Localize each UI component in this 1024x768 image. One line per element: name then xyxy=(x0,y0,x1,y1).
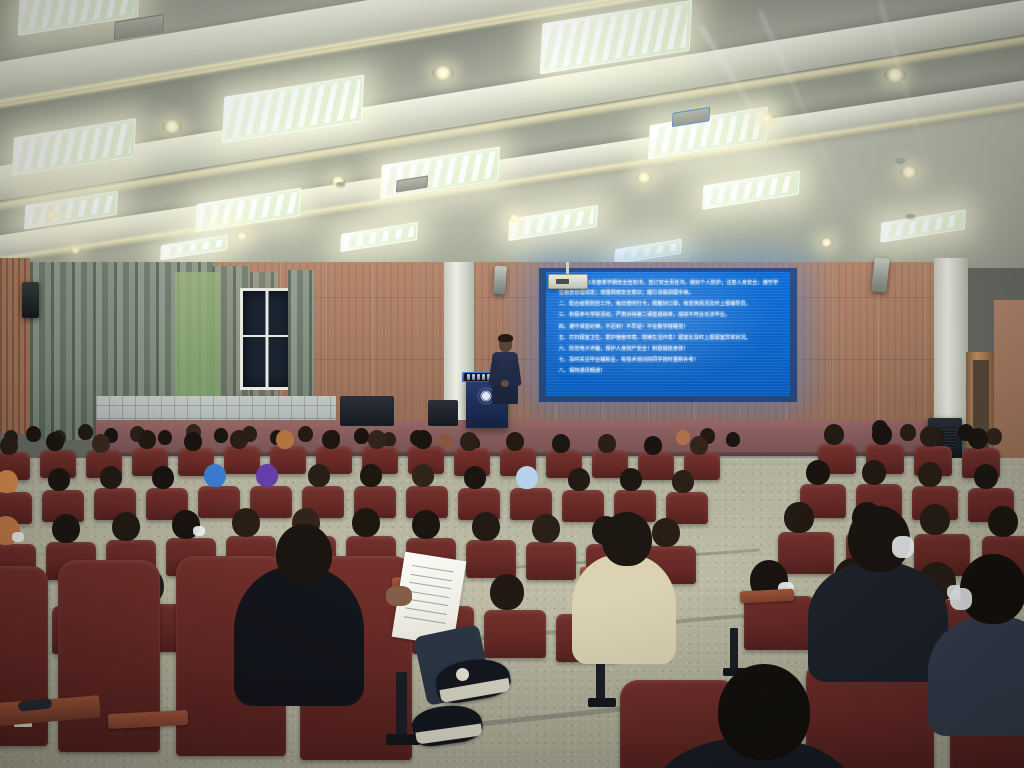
slide-line: 一、学习2021年春季学期安全告知书，签订安全责任书，做好个人防护；注意人身安全… xyxy=(559,279,779,298)
auditorium-photo: 一、学习2021年春季学期安全告知书，签订安全责任书，做好个人防护；注意人身安全… xyxy=(0,0,1024,768)
window xyxy=(240,288,294,390)
ceiling-downlight xyxy=(70,246,81,254)
ceiling-downlight xyxy=(756,112,776,125)
seat-leg xyxy=(730,628,738,672)
wall-speaker-left xyxy=(22,282,39,318)
ceiling-panel-light xyxy=(880,209,966,243)
ceiling-downlight xyxy=(162,120,182,133)
led-screen[interactable]: 一、学习2021年春季学期安全告知书，签订安全责任书，做好个人防护；注意人身安全… xyxy=(546,272,790,396)
slide-line: 二、配合疫情防控工作，每日按时打卡，佩戴好口罩，有发热情况及时上报辅导员。 xyxy=(559,300,779,310)
wall-speaker-stage-right xyxy=(493,266,507,295)
face-mask xyxy=(193,526,205,536)
seat-foot xyxy=(588,698,616,707)
hand-holding-paper xyxy=(386,586,412,606)
seat-leg xyxy=(396,672,407,738)
ceiling-panel-light xyxy=(340,222,418,253)
face-mask xyxy=(950,588,972,610)
slide-line: 六、防范电子诈骗，保护人身财产安全！积极锻炼身体！ xyxy=(559,345,779,355)
ceiling xyxy=(0,0,1024,268)
sprinkler-head xyxy=(906,214,915,218)
ceiling-projector xyxy=(548,274,588,289)
ceiling-downlight xyxy=(432,66,454,80)
sprinkler-head xyxy=(896,158,905,162)
ceiling-panel-light xyxy=(160,235,228,261)
ceiling-downlight xyxy=(900,166,918,178)
ceiling-panel-light xyxy=(614,239,682,265)
ceiling-downlight xyxy=(508,214,521,223)
ceiling-panel-light xyxy=(702,170,800,210)
ceiling-downlight xyxy=(44,210,59,220)
slide-line: 四、遵守课堂纪律，不迟到！不早退！不在教学楼睡觉！ xyxy=(559,323,779,333)
slide-line: 八、保持通讯畅通！ xyxy=(559,367,779,377)
sneaker-logo xyxy=(456,668,469,681)
face-mask xyxy=(892,536,914,558)
ceiling-panel-light xyxy=(508,205,598,242)
ceiling-downlight xyxy=(236,232,248,240)
slide-text-block: 一、学习2021年春季学期安全告知书，签订安全责任书，做好个人防护；注意人身安全… xyxy=(559,279,779,378)
ceiling-downlight xyxy=(636,172,652,183)
slide-line: 五、打扫寝室卫生，爱护宿舍环境，规律生活作息！寝室长及时上报寝室异常状况。 xyxy=(559,334,779,344)
slide-line: 七、及时关注毕业辅就业，有技术培训的同学按时重新补考！ xyxy=(559,356,779,366)
ceiling-downlight xyxy=(820,238,833,247)
sprinkler-head xyxy=(336,182,345,186)
face-mask xyxy=(12,532,24,542)
slide-line: 三、积极参与学院活动，严肃对待第二课堂成绩单，成绩不符合无法毕业。 xyxy=(559,311,779,321)
ceiling-downlight xyxy=(884,68,906,82)
